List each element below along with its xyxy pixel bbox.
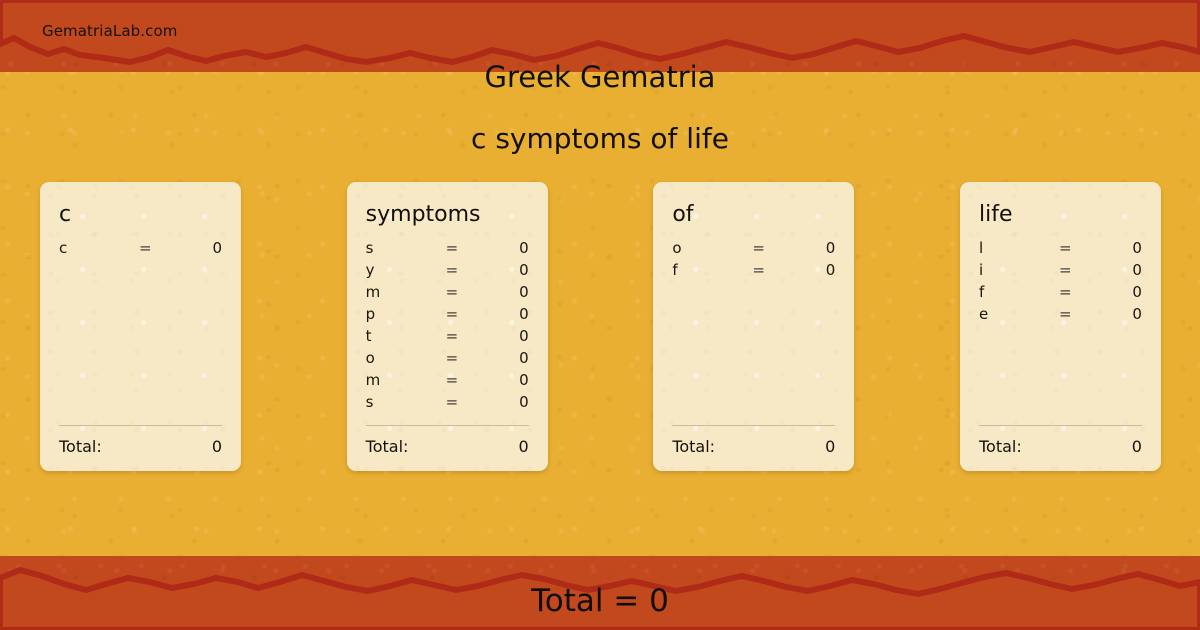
card-divider [672, 425, 835, 426]
letter-char: p [366, 305, 446, 323]
letter-value: 0 [494, 393, 529, 411]
equals-sign: = [446, 349, 494, 367]
letter-value: 0 [494, 327, 529, 345]
card-divider [366, 425, 529, 426]
card-divider [59, 425, 222, 426]
card-total-row: Total:0 [979, 437, 1142, 456]
page-title: Greek Gematria [0, 60, 1200, 94]
letter-row: t=0 [366, 327, 529, 349]
equals-sign: = [752, 261, 800, 279]
letter-char: y [366, 261, 446, 279]
letter-row: c=0 [59, 239, 222, 261]
letter-row: o=0 [366, 349, 529, 371]
letter-value-list: o=0f=0 [672, 239, 835, 283]
letter-row: m=0 [366, 283, 529, 305]
equals-sign: = [1059, 261, 1107, 279]
letter-value: 0 [494, 283, 529, 301]
letter-value: 0 [1107, 283, 1142, 301]
letter-row: l=0 [979, 239, 1142, 261]
card-total-label: Total: [59, 437, 212, 456]
card-total-label: Total: [672, 437, 825, 456]
grand-total: Total = 0 [0, 583, 1200, 619]
letter-value-list: c=0 [59, 239, 222, 261]
word-card-title: c [59, 202, 222, 228]
equals-sign: = [446, 305, 494, 323]
card-total-label: Total: [979, 437, 1132, 456]
card-total-value: 0 [212, 437, 222, 456]
letter-char: f [979, 283, 1059, 301]
letter-char: m [366, 283, 446, 301]
equals-sign: = [1059, 283, 1107, 301]
letter-value: 0 [1107, 239, 1142, 257]
word-card-list: cc=0Total:0symptomss=0y=0m=0p=0t=0o=0m=0… [40, 182, 1161, 471]
letter-row: y=0 [366, 261, 529, 283]
letter-value-list: s=0y=0m=0p=0t=0o=0m=0s=0 [366, 239, 529, 415]
letter-char: e [979, 305, 1059, 323]
letter-value: 0 [187, 239, 222, 257]
letter-value: 0 [1107, 261, 1142, 279]
equals-sign: = [446, 283, 494, 301]
word-card-title: life [979, 202, 1142, 228]
word-card-title: of [672, 202, 835, 228]
letter-char: i [979, 261, 1059, 279]
equals-sign: = [139, 239, 187, 257]
card-total-value: 0 [825, 437, 835, 456]
letter-row: f=0 [672, 261, 835, 283]
equals-sign: = [1059, 305, 1107, 323]
letter-char: l [979, 239, 1059, 257]
letter-char: s [366, 239, 446, 257]
letter-row: p=0 [366, 305, 529, 327]
card-total-row: Total:0 [366, 437, 529, 456]
letter-row: f=0 [979, 283, 1142, 305]
letter-value: 0 [800, 261, 835, 279]
equals-sign: = [446, 327, 494, 345]
card-divider [979, 425, 1142, 426]
letter-value: 0 [1107, 305, 1142, 323]
card-total-label: Total: [366, 437, 519, 456]
letter-row: i=0 [979, 261, 1142, 283]
gematria-page: GematriaLab.com Greek Gematria c symptom… [0, 0, 1200, 630]
letter-char: m [366, 371, 446, 389]
letter-row: m=0 [366, 371, 529, 393]
letter-value: 0 [800, 239, 835, 257]
card-total-value: 0 [518, 437, 528, 456]
equals-sign: = [752, 239, 800, 257]
word-card: ofo=0f=0Total:0 [653, 182, 854, 471]
letter-char: f [672, 261, 752, 279]
letter-char: o [366, 349, 446, 367]
word-card: lifel=0i=0f=0e=0Total:0 [960, 182, 1161, 471]
letter-value: 0 [494, 349, 529, 367]
letter-char: o [672, 239, 752, 257]
equals-sign: = [446, 261, 494, 279]
letter-value: 0 [494, 371, 529, 389]
letter-row: s=0 [366, 393, 529, 415]
letter-value-list: l=0i=0f=0e=0 [979, 239, 1142, 327]
letter-char: s [366, 393, 446, 411]
letter-row: o=0 [672, 239, 835, 261]
word-card: symptomss=0y=0m=0p=0t=0o=0m=0s=0Total:0 [347, 182, 548, 471]
site-brand[interactable]: GematriaLab.com [42, 22, 177, 40]
equals-sign: = [1059, 239, 1107, 257]
equals-sign: = [446, 393, 494, 411]
letter-value: 0 [494, 239, 529, 257]
word-card: cc=0Total:0 [40, 182, 241, 471]
card-total-row: Total:0 [59, 437, 222, 456]
equals-sign: = [446, 239, 494, 257]
word-card-title: symptoms [366, 202, 529, 228]
letter-row: e=0 [979, 305, 1142, 327]
equals-sign: = [446, 371, 494, 389]
letter-value: 0 [494, 305, 529, 323]
page-subtitle: c symptoms of life [0, 122, 1200, 155]
letter-row: s=0 [366, 239, 529, 261]
card-total-value: 0 [1132, 437, 1142, 456]
letter-value: 0 [494, 261, 529, 279]
letter-char: t [366, 327, 446, 345]
letter-char: c [59, 239, 139, 257]
card-total-row: Total:0 [672, 437, 835, 456]
